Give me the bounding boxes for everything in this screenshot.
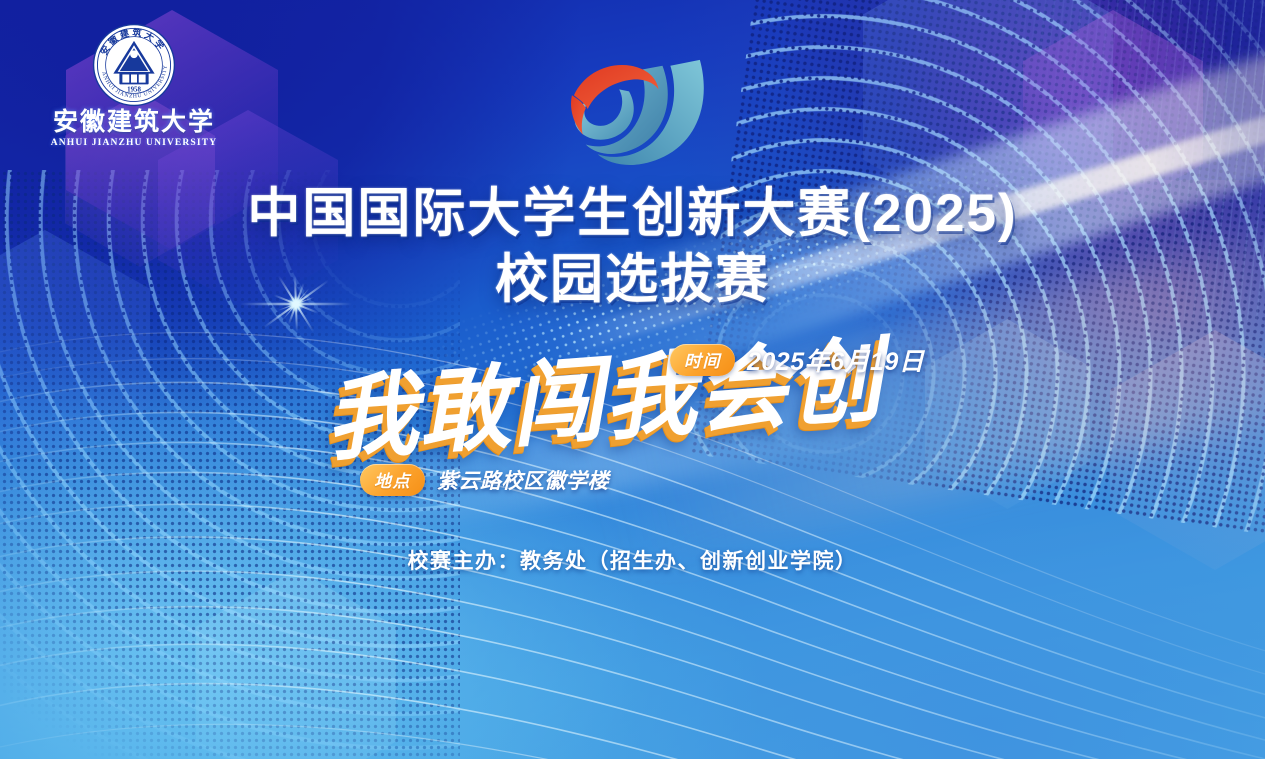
- poster-title: 中国国际大学生创新大赛(2025) 校园选拔赛: [0, 186, 1265, 308]
- svg-text:1958: 1958: [127, 87, 141, 94]
- university-seal-icon: 1958 安徽建筑大学 ANHUI JIANZHU UNIVERSITY: [91, 22, 177, 108]
- place-value: 紫云路校区徽学楼: [437, 465, 609, 495]
- university-name-en: ANHUI JIANZHU UNIVERSITY: [46, 138, 222, 148]
- event-time: 时间 2025年6月19日: [670, 342, 924, 378]
- organizer-line: 校赛主办：教务处（招生办、创新创业学院）: [0, 545, 1265, 575]
- competition-swirl-icon: [552, 52, 710, 172]
- university-name-cn: 安徽建筑大学: [46, 110, 222, 135]
- title-line-2: 校园选拔赛: [0, 252, 1265, 308]
- event-poster-banner: 1958 安徽建筑大学 ANHUI JIANZHU UNIVERSITY 安徽建…: [0, 0, 1265, 759]
- title-line-1: 中国国际大学生创新大赛(2025): [0, 186, 1265, 242]
- university-logo: 1958 安徽建筑大学 ANHUI JIANZHU UNIVERSITY 安徽建…: [46, 22, 222, 150]
- time-value: 2025年6月19日: [747, 342, 924, 378]
- place-badge-label: 地点: [360, 464, 425, 496]
- event-place: 地点 紫云路校区徽学楼: [360, 464, 609, 496]
- time-badge-label: 时间: [670, 344, 735, 376]
